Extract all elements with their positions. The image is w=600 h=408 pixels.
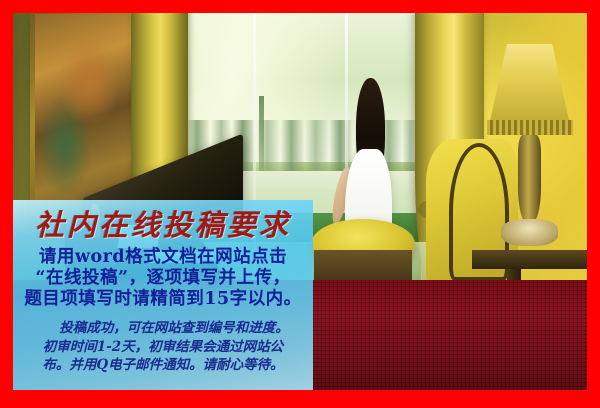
console-table (472, 250, 587, 269)
notice-sub-line-2: 初审时间1-2天，初审结果会通过网站公 (19, 338, 307, 357)
frame-border-top (0, 0, 600, 13)
notice-body: 请用word格式文档在网站点击 “在线投稿”，逐项填写并上传， 题目项填写时请精… (19, 247, 307, 310)
notice-subtext: 投稿成功，可在网站查到编号和进度。 初审时间1-2天，初审结果会通过网站公 布。… (19, 319, 307, 375)
frame-border-left (0, 0, 13, 408)
notice-panel: 社内在线投稿要求 请用word格式文档在网站点击 “在线投稿”，逐项填写并上传，… (13, 200, 313, 390)
notice-sub-line-3: 布。并用Q电子邮件通知。请耐心等待。 (19, 356, 307, 375)
poster-banner: 社内在线投稿要求 请用word格式文档在网站点击 “在线投稿”，逐项填写并上传，… (0, 0, 600, 408)
notice-body-line-3: 题目项填写时请精简到15字以内。 (19, 289, 307, 310)
notice-sub-line-1: 投稿成功，可在网站查到编号和进度。 (19, 319, 307, 338)
table-lamp-base (518, 135, 541, 223)
notice-title: 社内在线投稿要求 (19, 205, 307, 245)
notice-body-line-2: “在线投稿”，逐项填写并上传， (19, 268, 307, 289)
lamp-shade-fringe (487, 120, 573, 135)
table-lamp-foot (501, 219, 558, 246)
frame-border-bottom (0, 390, 600, 408)
notice-body-line-1: 请用word格式文档在网站点击 (19, 247, 307, 268)
frame-border-right (587, 0, 600, 408)
skyline-tower (259, 96, 264, 173)
